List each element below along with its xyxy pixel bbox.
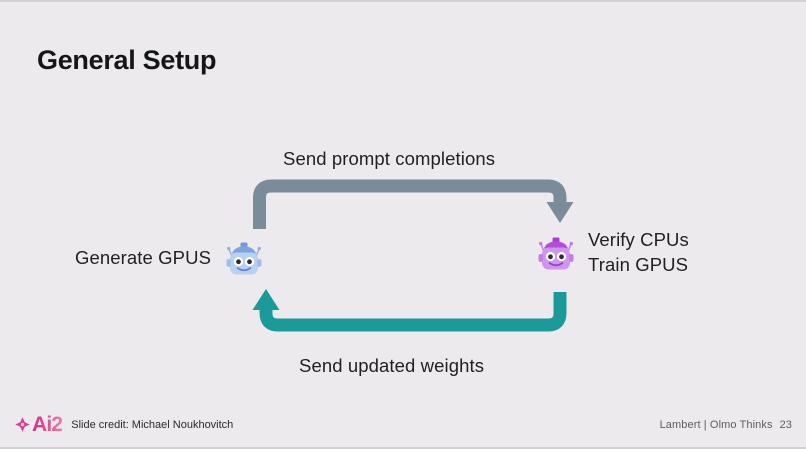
top-arrow-caption: Send prompt completions (283, 148, 495, 170)
bottom-arrow-caption: Send updated weights (299, 355, 484, 377)
ai2-flower-icon (14, 416, 31, 433)
top-arrow-shape (260, 186, 574, 229)
page-number: 23 (780, 419, 792, 431)
footer-left: Ai2 Slide credit: Michael Noukhovitch (14, 414, 233, 435)
slide-credit-text: Slide credit: Michael Noukhovitch (71, 419, 233, 431)
ai2-wordmark: Ai2 (32, 414, 62, 435)
robot-face-icon (220, 234, 268, 282)
footer-attribution: Lambert | Olmo Thinks (660, 419, 773, 431)
verify-node: Verify CPUs Train GPUS (532, 228, 689, 277)
verify-node-label: Verify CPUs Train GPUS (588, 228, 689, 277)
page-title: General Setup (37, 45, 216, 76)
bottom-arrow-shape (253, 289, 561, 325)
ai2-logo: Ai2 (14, 414, 62, 435)
generate-node-label: Generate GPUS (75, 246, 211, 271)
slide-canvas: General Setup Send prompt completions Se… (0, 0, 806, 449)
footer-right: Lambert | Olmo Thinks23 (660, 419, 792, 431)
robot-face-icon (532, 229, 580, 277)
generate-node: Generate GPUS (75, 234, 268, 282)
